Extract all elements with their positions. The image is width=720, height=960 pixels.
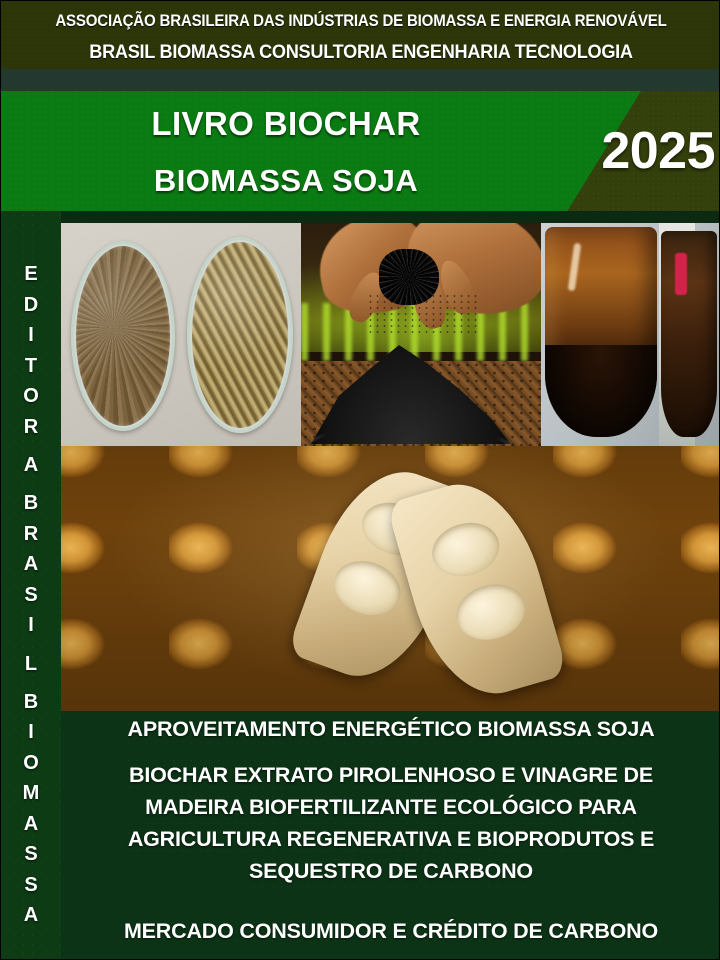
header-band: ASSOCIAÇÃO BRASILEIRA DAS INDÚSTRIAS DE …	[1, 1, 720, 69]
organization-name-line1: ASSOCIAÇÃO BRASILEIRA DAS INDÚSTRIAS DE …	[26, 12, 696, 31]
spine-letter: E	[24, 259, 37, 290]
description-line: BIOCHAR EXTRATO PIROLENHOSO E VINAGRE DE	[61, 759, 720, 791]
description-headline: APROVEITAMENTO ENERGÉTICO BIOMASSA SOJA	[61, 717, 720, 742]
title-zone: LIVRO BIOCHAR BIOMASSA SOJA 2025	[1, 91, 720, 211]
divider-strip	[1, 69, 720, 91]
spine-letter: S	[24, 580, 37, 611]
book-cover: ASSOCIAÇÃO BRASILEIRA DAS INDÚSTRIAS DE …	[0, 0, 720, 960]
spine-letter: M	[23, 778, 40, 809]
spine-letter: A	[24, 549, 38, 580]
description-footer: MERCADO CONSUMIDOR E CRÉDITO DE CARBONO	[61, 919, 720, 944]
spine-letter: S	[24, 870, 37, 901]
dish-rim	[187, 237, 293, 433]
spine-letter: O	[23, 748, 39, 779]
bottle-pyroligneous-extract	[661, 231, 717, 437]
pod-cavity	[426, 515, 506, 584]
spine-letter: T	[25, 351, 37, 382]
spine-letter: I	[28, 320, 34, 351]
spine-letter: A	[24, 900, 38, 931]
organization-name-line2: BRASIL BIOMASSA CONSULTORIA ENGENHARIA T…	[26, 41, 696, 64]
spine-letter: B	[24, 488, 38, 519]
spine-letter: D	[24, 290, 38, 321]
spine-letter: S	[24, 839, 37, 870]
publication-year: 2025	[601, 125, 715, 177]
photo-pyroligneous-extract-bottles	[541, 223, 720, 446]
spine-letter: I	[28, 610, 34, 641]
description-body: BIOCHAR EXTRATO PIROLENHOSO E VINAGRE DE…	[61, 759, 720, 887]
description-line: AGRICULTURA REGENERATIVA E BIOPRODUTOS E	[61, 823, 720, 855]
petri-dish-ground-biomass	[71, 241, 175, 431]
soil-scene	[301, 223, 541, 446]
spine-letter: B	[24, 687, 38, 718]
photo-strip	[61, 223, 720, 446]
spine-letter: A	[24, 809, 38, 840]
photo-petri-dishes-biomass	[61, 223, 301, 446]
description-line: MADEIRA BIOFERTILIZANTE ECOLÓGICO PARA	[61, 791, 720, 823]
pod-cavity	[326, 552, 408, 624]
petri-dish-chopped-biomass	[187, 237, 293, 433]
bottle-wood-vinegar	[545, 227, 657, 437]
spine-letter: I	[28, 717, 34, 748]
spine-letter: A	[24, 442, 38, 488]
spine-letter-stack: E D I T O R A B R A S I L B I O M A S S …	[1, 259, 61, 931]
dark-liquid	[545, 345, 657, 437]
spine-letter: O	[23, 381, 39, 412]
publisher-spine: E D I T O R A B R A S I L B I O M A S S …	[1, 211, 61, 960]
dish-rim	[71, 241, 175, 431]
book-title-line1: LIVRO BIOCHAR	[1, 105, 571, 143]
book-title-line2: BIOMASSA SOJA	[1, 163, 571, 199]
spine-letter: R	[24, 519, 38, 550]
photo-biochar-hands-soil	[301, 223, 541, 446]
spine-letter: R	[24, 412, 38, 443]
spine-letter: L	[25, 641, 37, 687]
description-block: APROVEITAMENTO ENERGÉTICO BIOMASSA SOJA …	[61, 711, 720, 960]
biochar-falling-particles	[367, 293, 477, 337]
description-line: SEQUESTRO DE CARBONO	[61, 855, 720, 887]
photo-soybean-grains-pods	[61, 446, 720, 711]
pod-cavity	[450, 576, 532, 647]
